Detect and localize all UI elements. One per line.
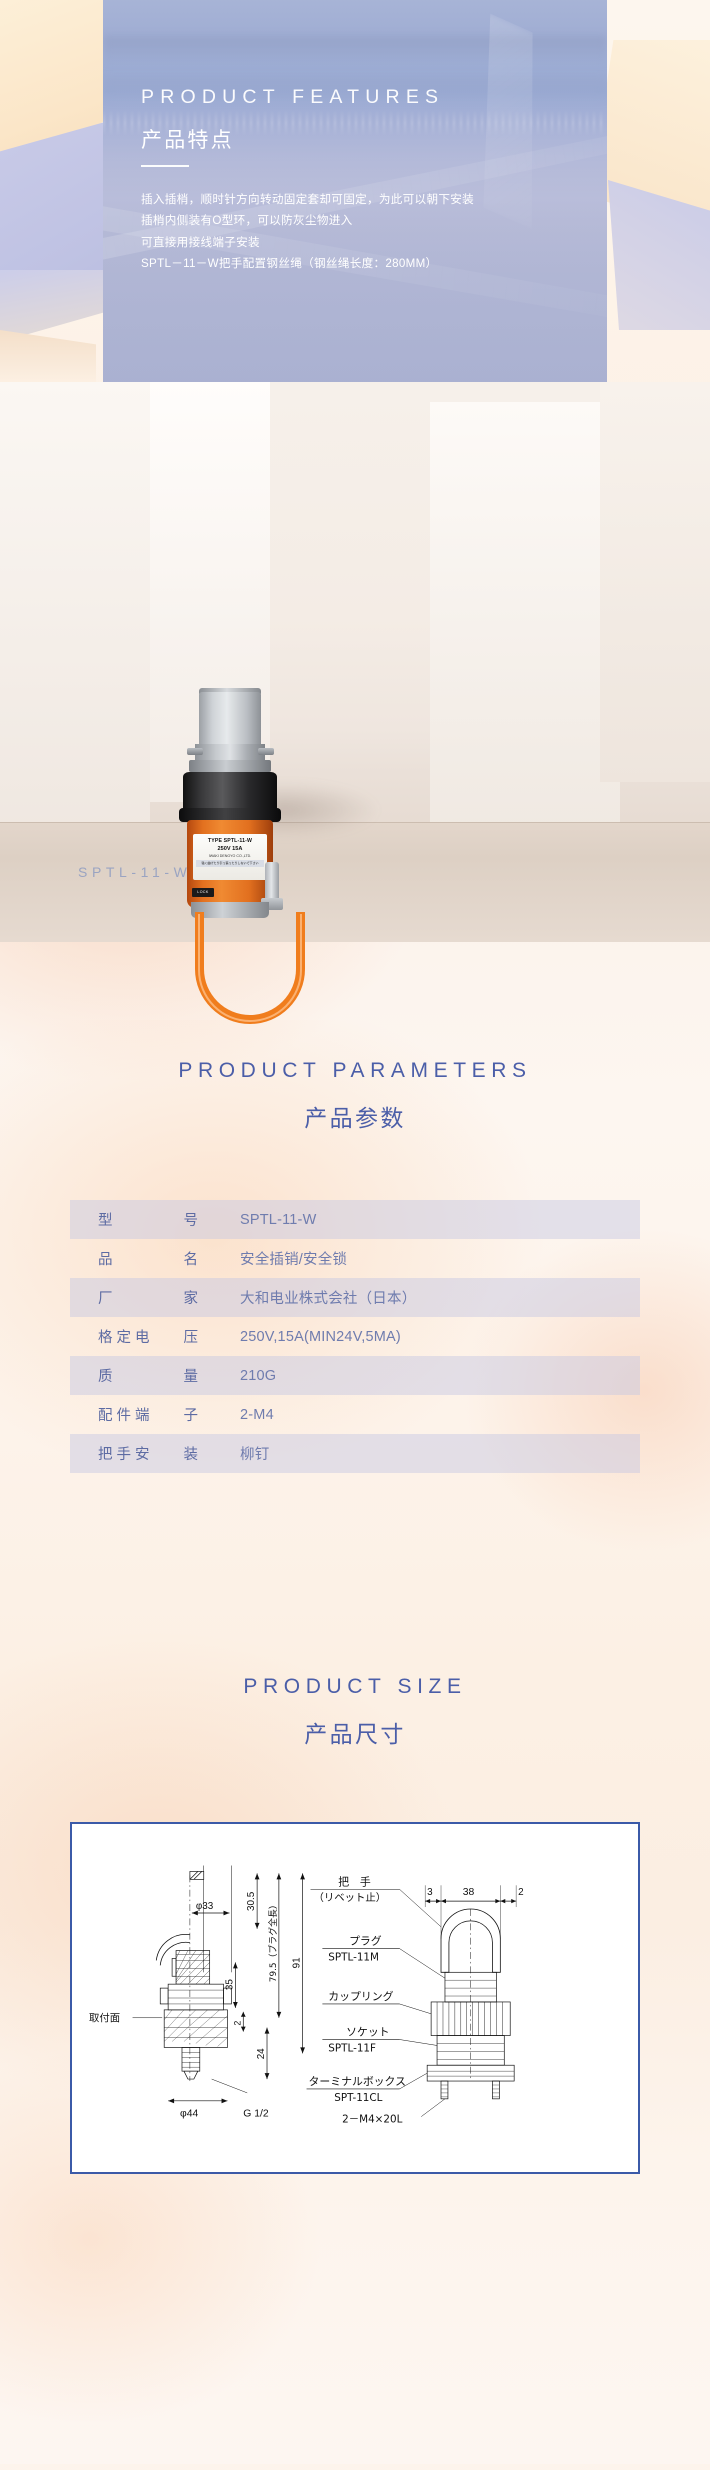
row-key: 品 名	[70, 1248, 240, 1269]
row-key-part-b: 量	[184, 1365, 199, 1386]
studio-wall	[0, 382, 150, 852]
size-title-en: PRODUCT SIZE	[0, 1676, 710, 1697]
svg-text:38: 38	[463, 1887, 475, 1898]
device-cable-highlight	[198, 914, 302, 1022]
table-row: 厂 家 大和电业株式会社（日本）	[70, 1278, 640, 1317]
parameters-heading: PRODUCT PARAMETERS 产品参数	[0, 1060, 710, 1130]
table-row: 配 件 端 子 2-M4	[70, 1395, 640, 1434]
parameters-title-en: PRODUCT PARAMETERS	[0, 1060, 710, 1081]
features-title-underline	[141, 165, 189, 167]
device-metal-cap	[199, 692, 261, 748]
row-key-part-a: 品	[98, 1248, 113, 1269]
device-lock-marking: LOCK	[192, 888, 214, 897]
feature-item: 插入插梢，顺时针方向转动固定套却可固定，为此可以朝下安装	[141, 189, 607, 211]
device-screw-right	[258, 748, 274, 755]
svg-text:SPTL-11F: SPTL-11F	[328, 2042, 376, 2054]
row-key-part-b: 号	[184, 1209, 199, 1230]
svg-text:79.5（プラグ全長）: 79.5（プラグ全長）	[267, 1900, 279, 1982]
parameters-title-cn: 产品参数	[0, 1107, 710, 1130]
svg-text:SPT-11CL: SPT-11CL	[334, 2092, 382, 2104]
device-screw-left	[187, 748, 203, 755]
row-value: 柳钉	[240, 1443, 269, 1464]
technical-drawing-panel: φ33 30.5 79.5（プラグ全長） 91 35	[70, 1822, 640, 2174]
row-key-part-b: 名	[184, 1248, 199, 1269]
row-value: SPTL-11-W	[240, 1212, 316, 1228]
features-list: 插入插梢，顺时针方向转动固定套却可固定，为此可以朝下安装 插梢内侧装有O型环，可…	[141, 189, 607, 275]
row-key-part-a: 厂	[98, 1287, 113, 1308]
row-key-part-b: 压	[184, 1326, 199, 1347]
table-row: 格 定 电 压 250V,15A(MIN24V,5MA)	[70, 1317, 640, 1356]
product-photo-caption: SPTL-11-W	[78, 864, 192, 880]
feature-item: 可直接用接线端子安装	[141, 232, 607, 254]
feature-item: 插梢内侧装有O型环，可以防灰尘物进入	[141, 210, 607, 232]
svg-text:2－M4×20L: 2－M4×20L	[342, 2114, 402, 2126]
row-value: 大和电业株式会社（日本）	[240, 1287, 416, 1308]
device-label-warning: 強く曲げたり引っ張ったりしないで下さい	[196, 860, 264, 867]
technical-drawing-svg: φ33 30.5 79.5（プラグ全長） 91 35	[72, 1824, 638, 2172]
studio-wall	[600, 382, 710, 782]
svg-text:SPTL-11M: SPTL-11M	[328, 1951, 379, 1963]
svg-text:（リベット止）: （リベット止）	[313, 1892, 386, 1904]
svg-text:G 1/2: G 1/2	[243, 2109, 269, 2120]
row-key: 厂 家	[70, 1287, 240, 1308]
svg-text:ターミナルボックス: ターミナルボックス	[309, 2075, 406, 2088]
svg-text:91: 91	[292, 1957, 303, 1968]
device-label-line1: TYPE SPTL-11-W	[196, 838, 264, 845]
features-title-cn: 产品特点	[141, 130, 607, 151]
row-key-part-a: 质	[98, 1365, 113, 1386]
row-key-part-a: 格 定 电	[98, 1326, 150, 1347]
row-key-part-b: 装	[184, 1443, 199, 1464]
svg-text:φ33: φ33	[196, 1901, 214, 1912]
device-label-manufacturer: IWAKI DENGYO CO.,LTD.	[196, 853, 264, 859]
device-type-label: TYPE SPTL-11-W 250V 15A IWAKI DENGYO CO.…	[193, 834, 267, 880]
device-label-line2: 250V 15A	[196, 845, 264, 853]
row-key-part-b: 家	[184, 1287, 199, 1308]
row-value: 2-M4	[240, 1407, 274, 1423]
table-row: 质 量 210G	[70, 1356, 640, 1395]
feature-item: SPTL－11－W把手配置钢丝绳（钢丝绳长度：280MM）	[141, 253, 607, 275]
features-title-en: PRODUCT FEATURES	[141, 88, 607, 108]
row-key-part-a: 配 件 端	[98, 1404, 150, 1425]
product-device-image: TYPE SPTL-11-W 250V 15A IWAKI DENGYO CO.…	[165, 302, 365, 862]
row-value: 210G	[240, 1368, 276, 1384]
studio-wall	[430, 402, 620, 832]
row-key: 格 定 电 压	[70, 1326, 240, 1347]
row-key: 把 手 安 装	[70, 1443, 240, 1464]
svg-text:3: 3	[427, 1887, 433, 1898]
row-key-part-b: 子	[184, 1404, 199, 1425]
table-row: 型 号 SPTL-11-W	[70, 1200, 640, 1239]
table-row: 品 名 安全插销/安全锁	[70, 1239, 640, 1278]
svg-text:カップリング: カップリング	[328, 1989, 393, 2003]
size-heading: PRODUCT SIZE 产品尺寸	[0, 1676, 710, 1746]
row-key-part-a: 型	[98, 1209, 113, 1230]
row-key: 配 件 端 子	[70, 1404, 240, 1425]
svg-text:24: 24	[256, 2048, 267, 2059]
row-value: 安全插销/安全锁	[240, 1248, 347, 1269]
product-photo-section: TYPE SPTL-11-W 250V 15A IWAKI DENGYO CO.…	[0, 382, 710, 942]
svg-text:取付面: 取付面	[89, 2012, 120, 2025]
svg-text:ソケット: ソケット	[346, 2026, 389, 2039]
row-key: 型 号	[70, 1209, 240, 1230]
row-key: 质 量	[70, 1365, 240, 1386]
parameters-table: 型 号 SPTL-11-W 品 名 安全插销/安全锁 厂 家 大和电业株式会社（…	[70, 1200, 640, 1473]
row-key-part-a: 把 手 安	[98, 1443, 150, 1464]
svg-text:30.5: 30.5	[246, 1891, 257, 1911]
svg-text:2: 2	[232, 2021, 242, 2026]
svg-text:φ44: φ44	[180, 2109, 198, 2120]
size-title-cn: 产品尺寸	[0, 1723, 710, 1746]
svg-text:プラグ: プラグ	[349, 1934, 382, 1948]
product-features-section: PRODUCT FEATURES 产品特点 插入插梢，顺时针方向转动固定套却可固…	[103, 0, 607, 382]
device-metal-ring	[189, 760, 271, 772]
table-row: 把 手 安 装 柳钉	[70, 1434, 640, 1473]
svg-text:把 手: 把 手	[338, 1874, 371, 1888]
svg-text:2: 2	[518, 1887, 524, 1898]
row-value: 250V,15A(MIN24V,5MA)	[240, 1329, 401, 1345]
